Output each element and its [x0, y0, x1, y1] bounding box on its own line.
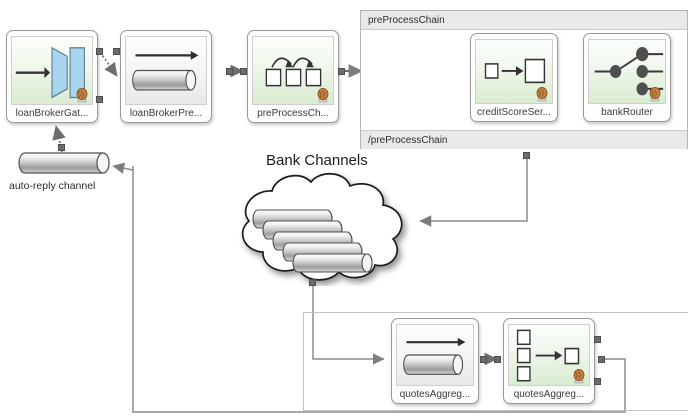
quotesaggregator-port-in[interactable]: [494, 356, 501, 363]
node-label: loanBrokerPre...: [130, 105, 202, 120]
preprocesschain-port-in[interactable]: [240, 68, 247, 75]
quoteschannel-port-out[interactable]: [480, 356, 487, 363]
auto-reply-channel-label: auto-reply channel: [9, 180, 95, 192]
bean-badge-icon: [316, 88, 330, 103]
quotesaggregator-port-a[interactable]: [594, 336, 601, 343]
node-bankrouter[interactable]: bankRouter: [583, 33, 671, 122]
quotesaggregator-port-b[interactable]: [594, 378, 601, 385]
auto-reply-channel-cylinder[interactable]: [18, 150, 114, 176]
node-label: creditScoreSer...: [477, 104, 551, 119]
bean-badge-icon: [535, 87, 549, 102]
diagram-canvas: preProcessChain /preProcessChain Bank Ch…: [0, 0, 688, 419]
creditscoreservice-glyph: [475, 39, 553, 104]
group-header-label: preProcessChain: [361, 11, 687, 30]
bean-badge-icon: [648, 87, 662, 102]
channel-icon: [126, 37, 206, 104]
node-preprocesschain[interactable]: preProcessCh...: [247, 30, 339, 123]
preprocesschain-glyph: [252, 36, 334, 105]
loanbrokerpre-port-out[interactable]: [226, 68, 233, 75]
bankrouter-glyph: [588, 39, 666, 104]
node-label: loanBrokerGat...: [16, 105, 89, 120]
loanbrokerpre-glyph: [125, 36, 207, 105]
connector-bankrouter-to-bankchannels: [420, 159, 527, 221]
preprocesschain-port-out[interactable]: [338, 68, 345, 75]
group-footer-label: /preProcessChain: [361, 130, 687, 149]
bank-channels-cloud: [208, 168, 423, 286]
quotesaggregator-glyph: [508, 324, 590, 386]
quotesaggregator-port-out[interactable]: [598, 356, 605, 363]
connector-gateway-to-loanbrokerpre: [100, 52, 117, 76]
loanbrokergateway-port-out[interactable]: [96, 48, 103, 55]
node-label: quotesAggreg...: [400, 386, 471, 401]
channel-icon: [397, 325, 473, 385]
node-creditscoreservice[interactable]: creditScoreSer...: [470, 33, 558, 122]
node-quotesaggregator[interactable]: quotesAggreg...: [503, 318, 595, 404]
node-label: preProcessCh...: [257, 105, 329, 120]
loanbrokergateway-glyph: [11, 36, 93, 105]
loanbrokergateway-port-in[interactable]: [96, 96, 103, 103]
node-loanbrokerpre[interactable]: loanBrokerPre...: [120, 30, 212, 123]
quotesaggregatorchannel-glyph: [396, 324, 474, 386]
auto-reply-port[interactable]: [58, 144, 65, 151]
bank-channels-label: Bank Channels: [266, 152, 368, 169]
loanbrokerpre-port-in[interactable]: [113, 48, 120, 55]
bankrouter-port-out[interactable]: [523, 152, 530, 159]
bean-badge-icon: [572, 369, 586, 384]
cloud-port[interactable]: [309, 279, 316, 286]
bean-badge-icon: [75, 88, 89, 103]
node-label: quotesAggreg...: [514, 386, 585, 401]
node-loanbrokergateway[interactable]: loanBrokerGat...: [6, 30, 98, 123]
node-quotesaggregatorchannel[interactable]: quotesAggreg...: [391, 318, 479, 404]
node-label: bankRouter: [601, 104, 653, 119]
